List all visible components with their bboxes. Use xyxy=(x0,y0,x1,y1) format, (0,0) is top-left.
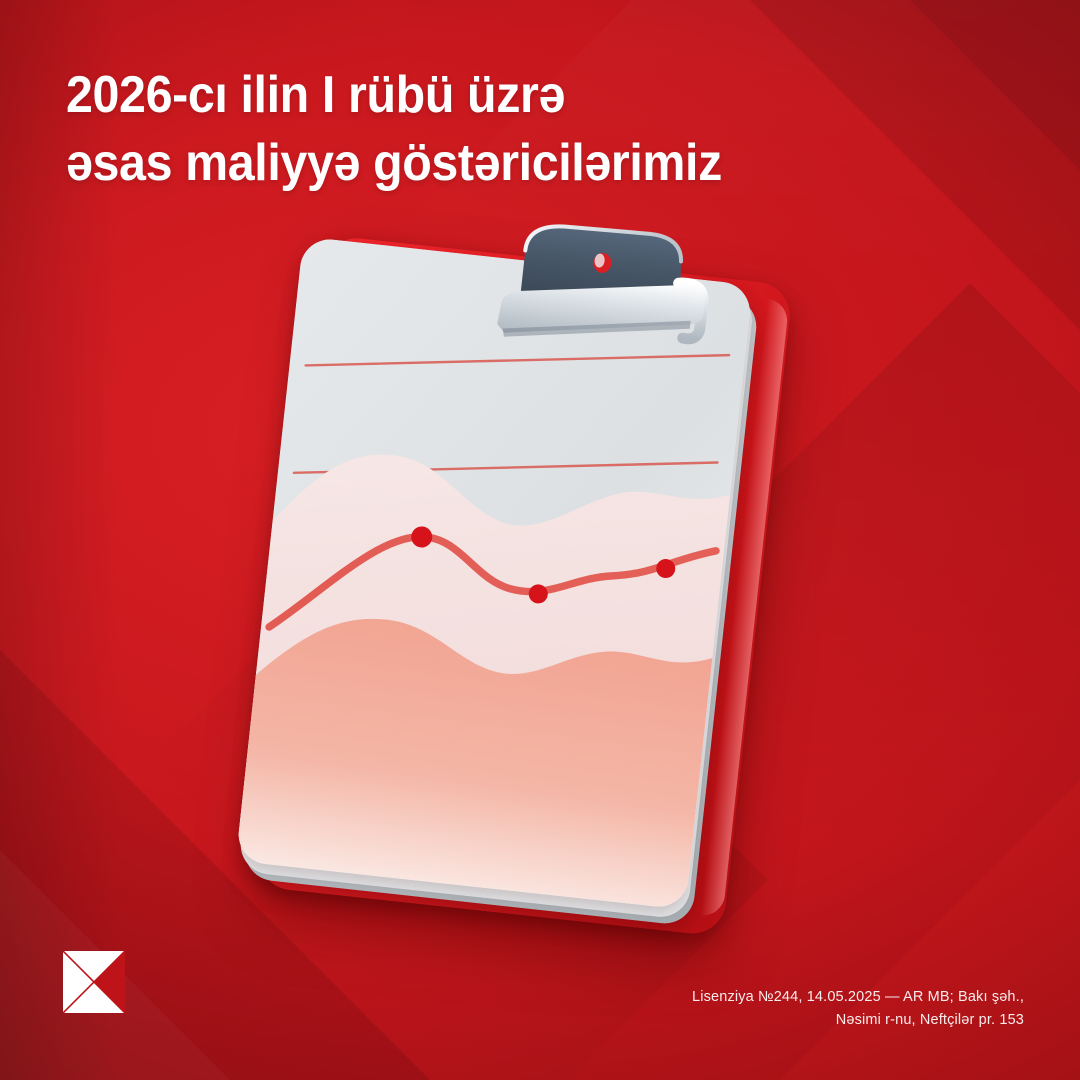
footer-line-2: Nəsimi r-nu, Neftçilər pr. 153 xyxy=(594,1009,1024,1032)
kapital-bank-logo[interactable] xyxy=(63,951,125,1013)
headline-line-2: əsas maliyyə göstəricilərimiz xyxy=(66,130,903,198)
logo-mark xyxy=(63,951,125,1013)
headline-line-1: 2026-cı ilin I rübü üzrə xyxy=(66,66,565,124)
footer-legal: Lisenziya №244, 14.05.2025 — AR MB; Bakı… xyxy=(594,986,1024,1032)
clipboard-clip xyxy=(490,216,732,360)
headline: 2026-cı ilin I rübü üzrə əsas maliyyə gö… xyxy=(66,62,903,197)
footer-line-1: Lisenziya №244, 14.05.2025 — AR MB; Bakı… xyxy=(594,986,1024,1009)
clipboard-illustration xyxy=(234,223,773,930)
poster-canvas: 2026-cı ilin I rübü üzrə əsas maliyyə gö… xyxy=(0,0,1080,1080)
clip-graphic xyxy=(490,216,732,360)
